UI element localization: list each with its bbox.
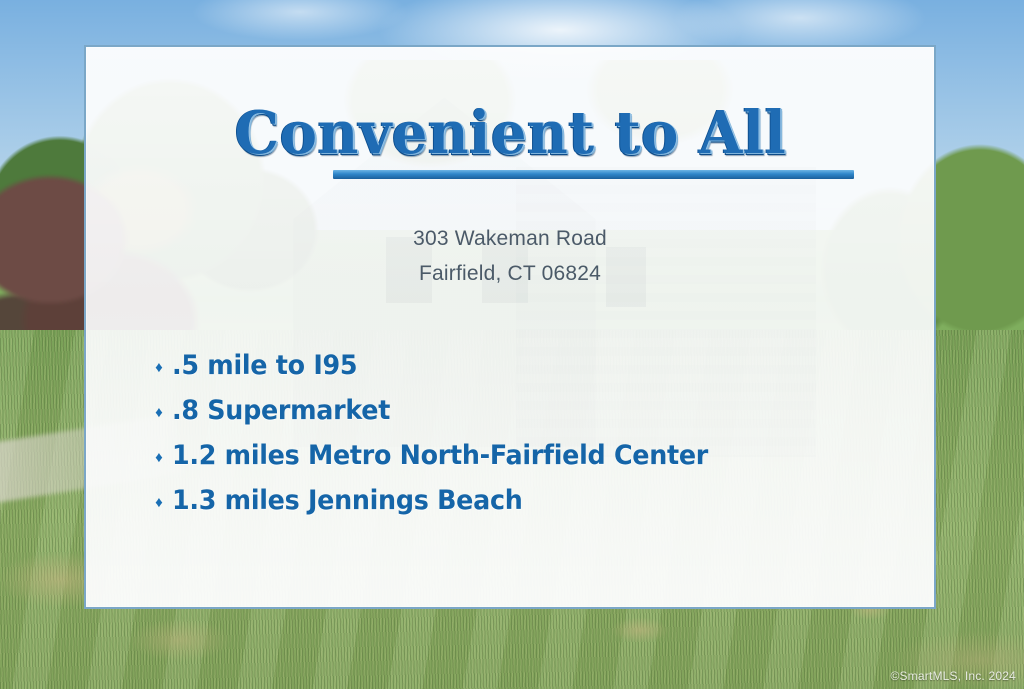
address-line-1: 303 Wakeman Road [86,221,934,256]
list-item: ♦ 1.2 miles Metro North-Fairfield Center [146,433,742,478]
slide-title-wrapper: Convenient to All [86,103,934,162]
list-item: ♦ .8 Supermarket [146,388,742,433]
list-item-label: .5 mile to I95 [172,350,357,381]
slide-title: Convenient to All [234,103,786,162]
list-item-label: 1.2 miles Metro North-Fairfield Center [172,440,708,471]
convenience-bullet-list: ♦ .5 mile to I95 ♦ .8 Supermarket ♦ 1.2 … [146,343,742,523]
listing-photo-slide: Convenient to All 303 Wakeman Road Fairf… [0,0,1024,689]
property-address: 303 Wakeman Road Fairfield, CT 06824 [86,221,934,291]
list-item: ♦ 1.3 miles Jennings Beach [146,478,742,523]
diamond-bullet-icon: ♦ [146,405,172,420]
slide-panel: Convenient to All 303 Wakeman Road Fairf… [84,45,936,609]
diamond-bullet-icon: ♦ [146,495,172,510]
diamond-bullet-icon: ♦ [146,360,172,375]
diamond-bullet-icon: ♦ [146,450,172,465]
mls-watermark: ©SmartMLS, Inc. 2024 [890,669,1016,683]
list-item-label: 1.3 miles Jennings Beach [172,485,523,516]
address-line-2: Fairfield, CT 06824 [86,256,934,291]
list-item-label: .8 Supermarket [172,395,390,426]
title-underline-bar [333,170,854,179]
list-item: ♦ .5 mile to I95 [146,343,742,388]
